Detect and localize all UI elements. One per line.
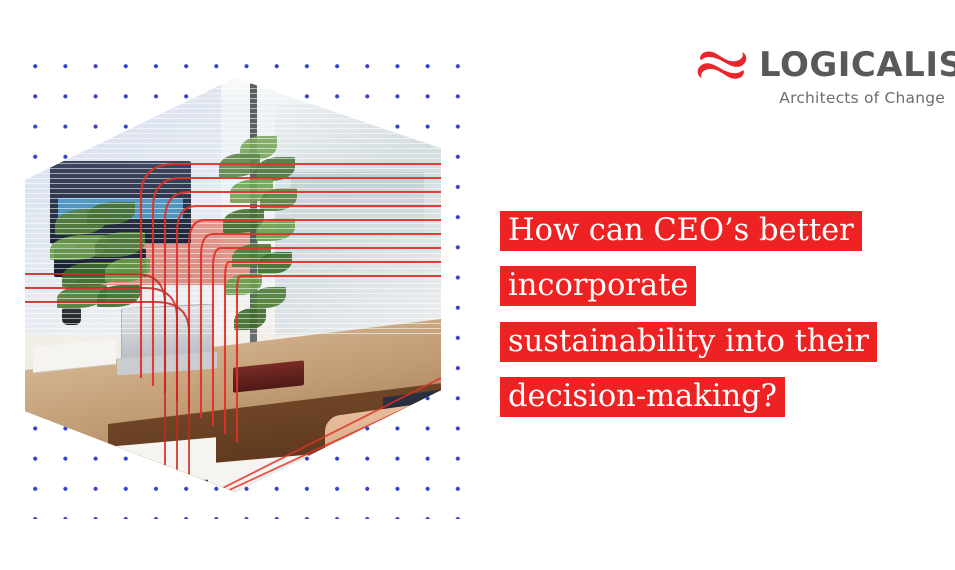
slide-canvas: LOGICALIS Architects of Change How can C… <box>0 0 955 570</box>
headline-line-1-text: How can CEO’s better <box>500 211 862 251</box>
logicalis-tagline: Architects of Change <box>695 89 945 107</box>
headline-line-2-text: incorporate <box>500 266 696 306</box>
logicalis-logo: LOGICALIS Architects of Change <box>695 48 945 110</box>
headline: How can CEO’s better incorporate sustain… <box>500 206 948 428</box>
headline-line-3-text: sustainability into their <box>500 322 877 362</box>
headline-line-3: sustainability into their <box>500 317 948 366</box>
headline-line-2: incorporate <box>500 261 948 310</box>
plant-center <box>208 136 316 351</box>
headline-line-4: decision-making? <box>500 372 948 421</box>
headline-line-4-text: decision-making? <box>500 377 785 417</box>
logicalis-wordmark: LOGICALIS <box>759 48 955 82</box>
logicalis-wave-mark-icon <box>695 48 749 82</box>
headline-line-1: How can CEO’s better <box>500 206 948 255</box>
